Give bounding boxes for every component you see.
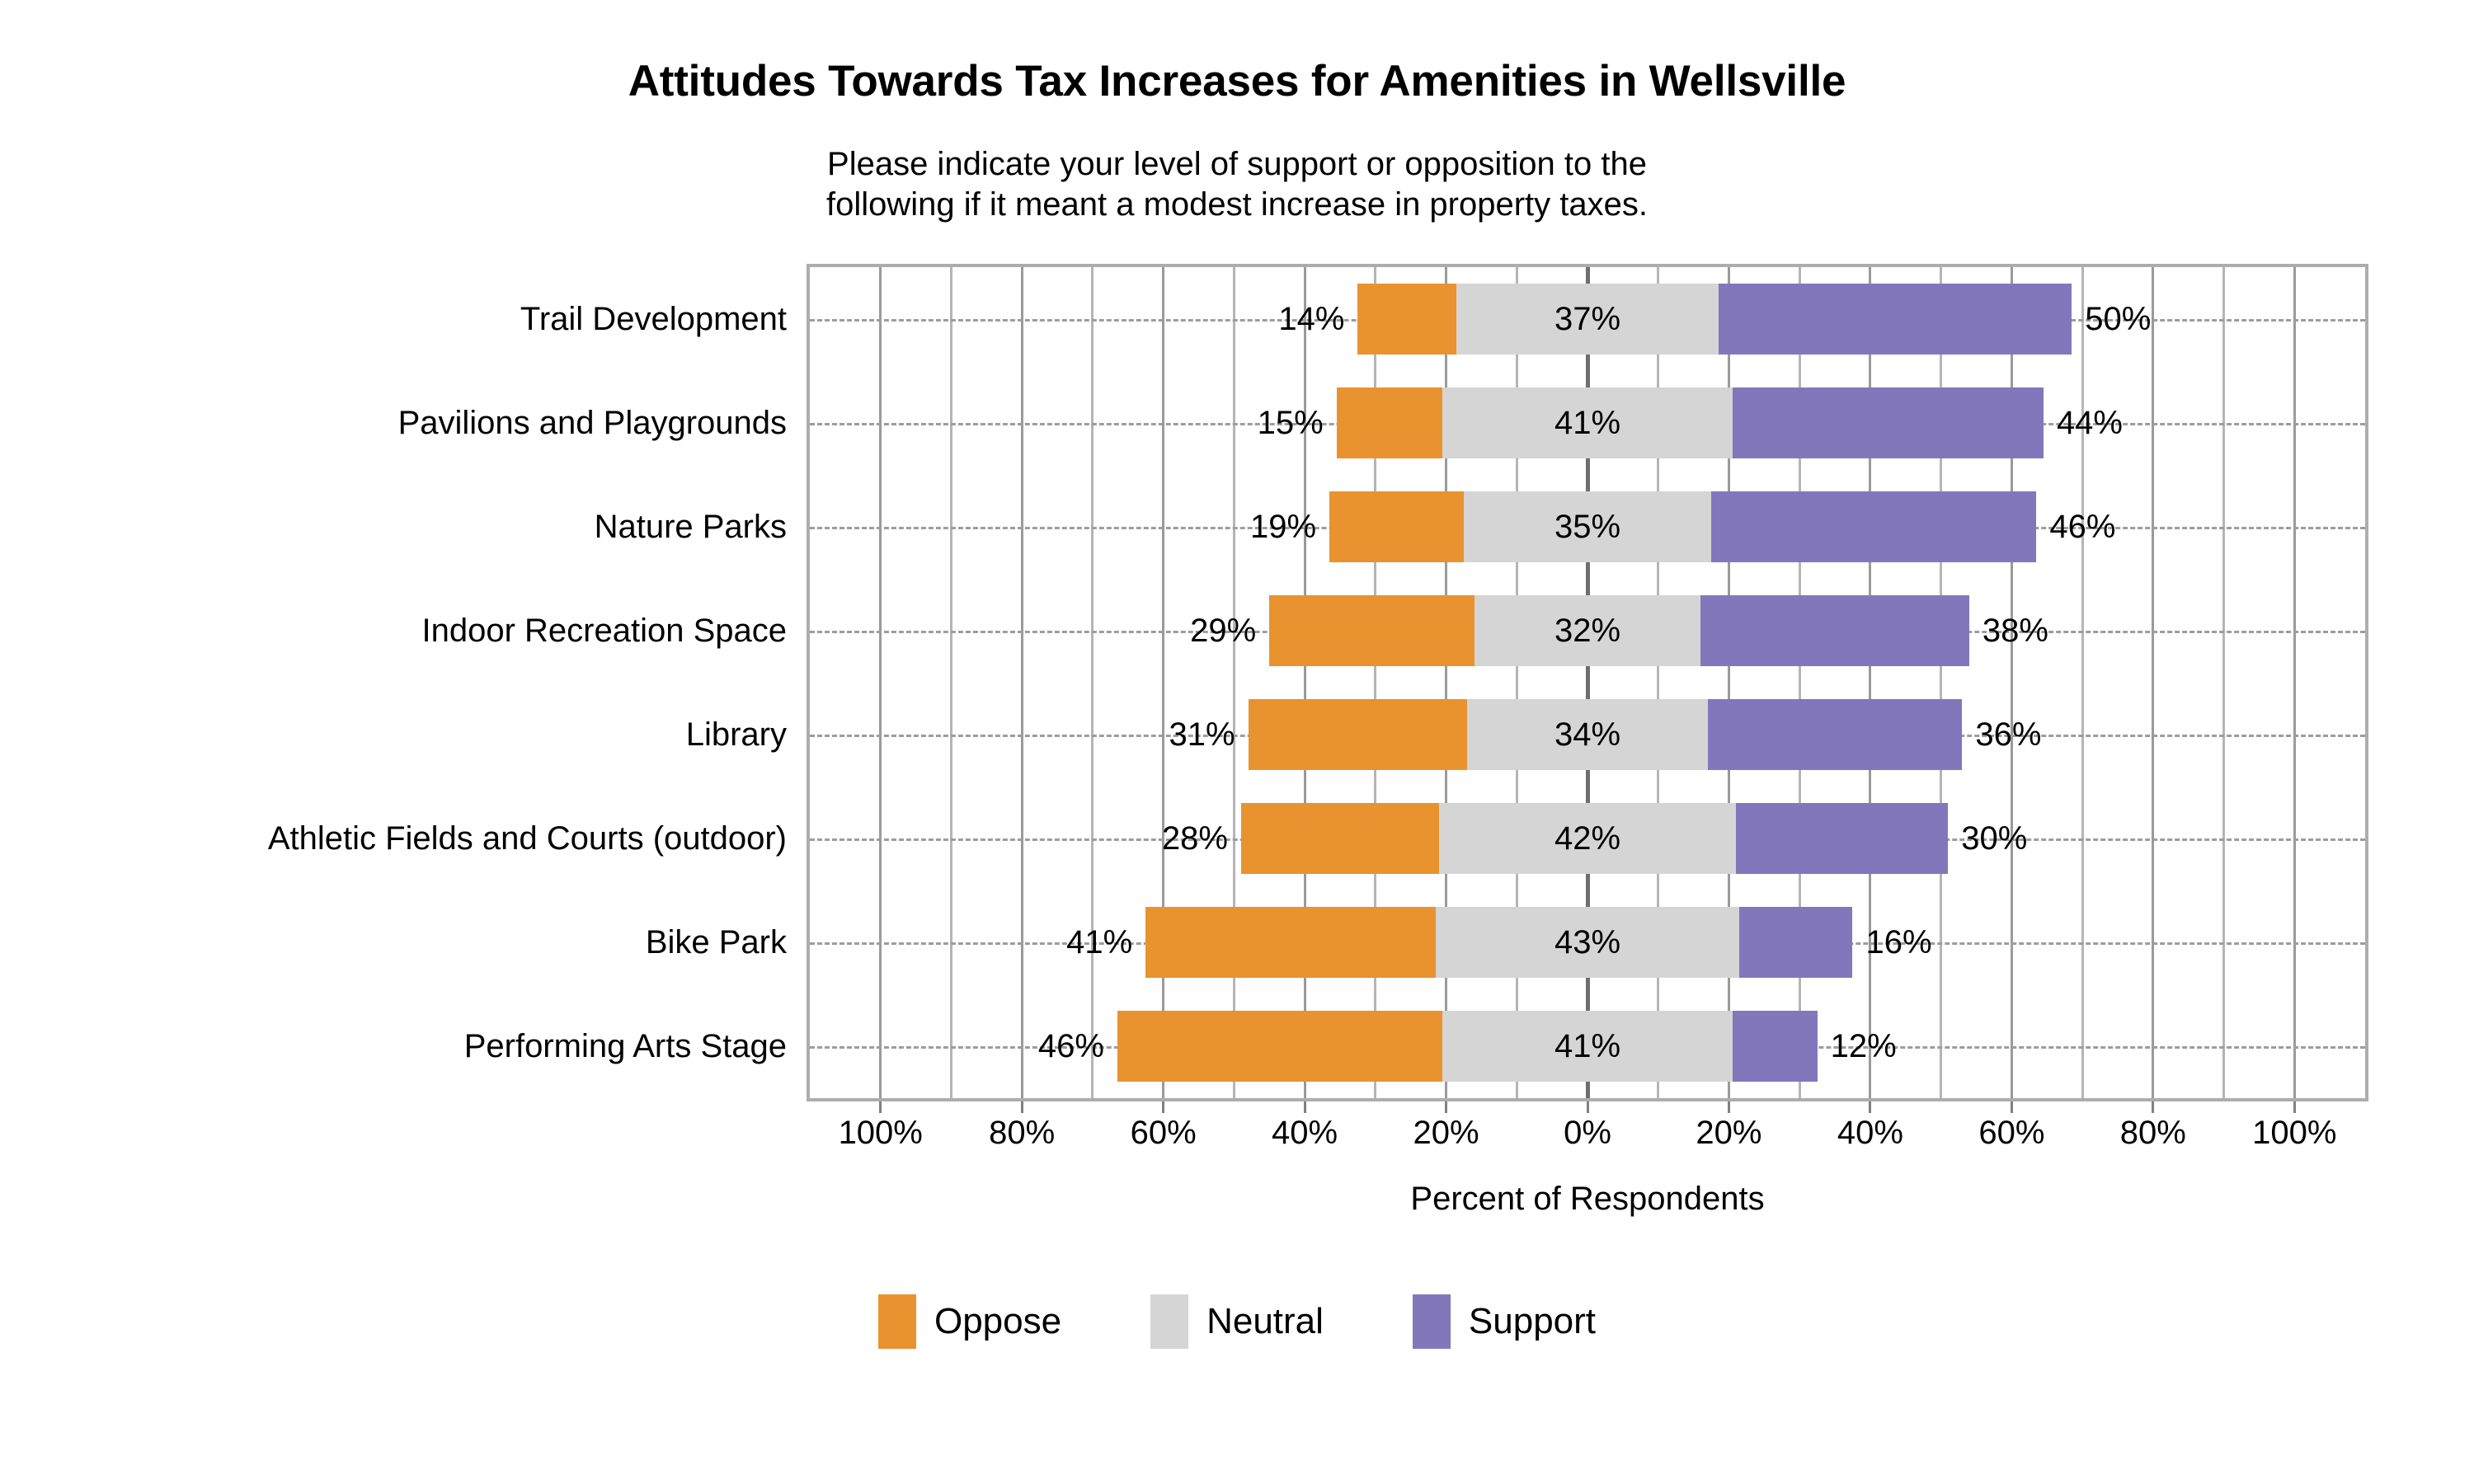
bar-value-label-support: 50% (2072, 284, 2151, 355)
bar-value-label-neutral: 37% (1456, 284, 1718, 355)
chart-title: Attitudes Towards Tax Increases for Amen… (0, 56, 2474, 106)
bar-value-label-neutral: 43% (1436, 907, 1740, 978)
bar-value-label-neutral: 41% (1442, 387, 1732, 458)
category-label: Trail Development (520, 284, 787, 355)
x-axis-tick-mark (2293, 1101, 2296, 1113)
bar-segment-support[interactable] (1711, 491, 2036, 562)
bar-value-label-oppose: 29% (1190, 595, 1269, 666)
chart-subtitle-line-1: Please indicate your level of support or… (0, 144, 2474, 185)
bar-value-label-oppose: 14% (1278, 284, 1357, 355)
bar-row: 41%46%12% (810, 1011, 2365, 1082)
category-label: Nature Parks (595, 491, 787, 562)
x-axis-tick-label: 80% (2120, 1115, 2186, 1152)
x-axis-tick-label: 40% (1837, 1115, 1903, 1152)
bar-value-label-support: 36% (1962, 699, 2041, 770)
bar-row: 37%14%50% (810, 284, 2365, 355)
bar-value-label-support: 38% (1969, 595, 2048, 666)
bar-value-label-oppose: 28% (1162, 803, 1241, 874)
x-axis-tick-mark (2011, 1101, 2013, 1113)
bar-value-label-oppose: 19% (1250, 491, 1329, 562)
bar-value-label-oppose: 41% (1066, 907, 1145, 978)
legend-swatch-icon (1413, 1294, 1451, 1349)
chart-canvas: Attitudes Towards Tax Increases for Amen… (0, 0, 2474, 1484)
bar-value-label-support: 12% (1818, 1011, 1897, 1082)
bar-segment-oppose[interactable] (1269, 595, 1475, 666)
plot-area: 37%14%50%41%15%44%35%19%46%32%29%38%34%3… (807, 264, 2368, 1101)
category-label: Performing Arts Stage (464, 1011, 787, 1082)
legend-label: Oppose (934, 1301, 1061, 1342)
chart-legend: OpposeNeutralSupport (0, 1294, 2474, 1349)
bar-value-label-oppose: 31% (1169, 699, 1248, 770)
bar-row: 42%28%30% (810, 803, 2365, 874)
bar-segment-support[interactable] (1719, 284, 2072, 355)
bar-value-label-support: 16% (1852, 907, 1931, 978)
x-axis-tick-mark (1445, 1101, 1447, 1113)
chart-subtitle: Please indicate your level of support or… (0, 144, 2474, 225)
bar-segment-support[interactable] (1733, 387, 2044, 458)
bar-row: 34%31%36% (810, 699, 2365, 770)
bar-segment-oppose[interactable] (1329, 491, 1464, 562)
bar-value-label-oppose: 46% (1038, 1011, 1117, 1082)
bar-segment-support[interactable] (1733, 1011, 1818, 1082)
bar-value-label-support: 44% (2044, 387, 2123, 458)
bar-segment-neutral[interactable]: 41% (1442, 1011, 1732, 1082)
bar-segment-neutral[interactable]: 34% (1467, 699, 1707, 770)
legend-swatch-icon (878, 1294, 916, 1349)
category-label: Bike Park (646, 907, 787, 978)
bar-segment-support[interactable] (1700, 595, 1969, 666)
bar-value-label-neutral: 35% (1464, 491, 1711, 562)
x-axis-tick-mark (2152, 1101, 2154, 1113)
bar-segment-oppose[interactable] (1249, 699, 1468, 770)
x-axis-tick-mark (1021, 1101, 1023, 1113)
bar-value-label-neutral: 41% (1442, 1011, 1732, 1082)
legend-item[interactable]: Support (1413, 1294, 1596, 1349)
x-axis-title: Percent of Respondents (807, 1181, 2368, 1218)
x-axis-tick-label: 0% (1564, 1115, 1611, 1152)
x-axis-tick-label: 20% (1413, 1115, 1479, 1152)
x-axis-tick-label: 60% (1131, 1115, 1197, 1152)
legend-label: Neutral (1206, 1301, 1324, 1342)
bar-segment-oppose[interactable] (1241, 803, 1439, 874)
bar-row: 32%29%38% (810, 595, 2365, 666)
x-axis-tick-mark (1869, 1101, 1871, 1113)
bar-value-label-neutral: 34% (1467, 699, 1707, 770)
bar-segment-neutral[interactable]: 42% (1439, 803, 1736, 874)
x-axis-tick-mark (879, 1101, 882, 1113)
x-axis-tick-label: 20% (1696, 1115, 1761, 1152)
bar-segment-neutral[interactable]: 35% (1464, 491, 1711, 562)
bar-row: 43%41%16% (810, 907, 2365, 978)
category-label: Pavilions and Playgrounds (398, 387, 787, 458)
x-axis-tick-label: 60% (1978, 1115, 2044, 1152)
bar-segment-support[interactable] (1736, 803, 1948, 874)
chart-subtitle-line-2: following if it meant a modest increase … (0, 185, 2474, 225)
legend-item[interactable]: Oppose (878, 1294, 1061, 1349)
legend-swatch-icon (1150, 1294, 1188, 1349)
bar-row: 35%19%46% (810, 491, 2365, 562)
bar-segment-support[interactable] (1708, 699, 1963, 770)
bar-value-label-oppose: 15% (1258, 387, 1337, 458)
bar-row: 41%15%44% (810, 387, 2365, 458)
legend-label: Support (1469, 1301, 1596, 1342)
legend-item[interactable]: Neutral (1150, 1294, 1324, 1349)
plot-inner: 37%14%50%41%15%44%35%19%46%32%29%38%34%3… (810, 267, 2365, 1098)
bar-segment-oppose[interactable] (1117, 1011, 1442, 1082)
category-label: Indoor Recreation Space (422, 595, 788, 666)
x-axis-tick-label: 40% (1272, 1115, 1338, 1152)
bar-segment-support[interactable] (1739, 907, 1852, 978)
bar-value-label-support: 46% (2036, 491, 2115, 562)
bar-value-label-neutral: 42% (1439, 803, 1736, 874)
x-axis-tick-mark (1728, 1101, 1730, 1113)
bar-segment-oppose[interactable] (1337, 387, 1443, 458)
x-axis-tick-mark (1587, 1101, 1589, 1113)
bar-segment-oppose[interactable] (1145, 907, 1435, 978)
x-axis-tick-label: 80% (989, 1115, 1055, 1152)
x-axis-tick-label: 100% (839, 1115, 923, 1152)
bar-value-label-neutral: 32% (1475, 595, 1700, 666)
x-axis-tick-label: 100% (2252, 1115, 2336, 1152)
bar-segment-oppose[interactable] (1357, 284, 1456, 355)
bar-segment-neutral[interactable]: 41% (1442, 387, 1732, 458)
bar-segment-neutral[interactable]: 37% (1456, 284, 1718, 355)
x-axis-tick-mark (1162, 1101, 1164, 1113)
x-axis-tick-mark (1304, 1101, 1306, 1113)
bar-value-label-support: 30% (1948, 803, 2027, 874)
bar-segment-neutral[interactable]: 32% (1475, 595, 1700, 666)
bar-segment-neutral[interactable]: 43% (1436, 907, 1740, 978)
category-label: Athletic Fields and Courts (outdoor) (268, 803, 787, 874)
category-label: Library (686, 699, 787, 770)
